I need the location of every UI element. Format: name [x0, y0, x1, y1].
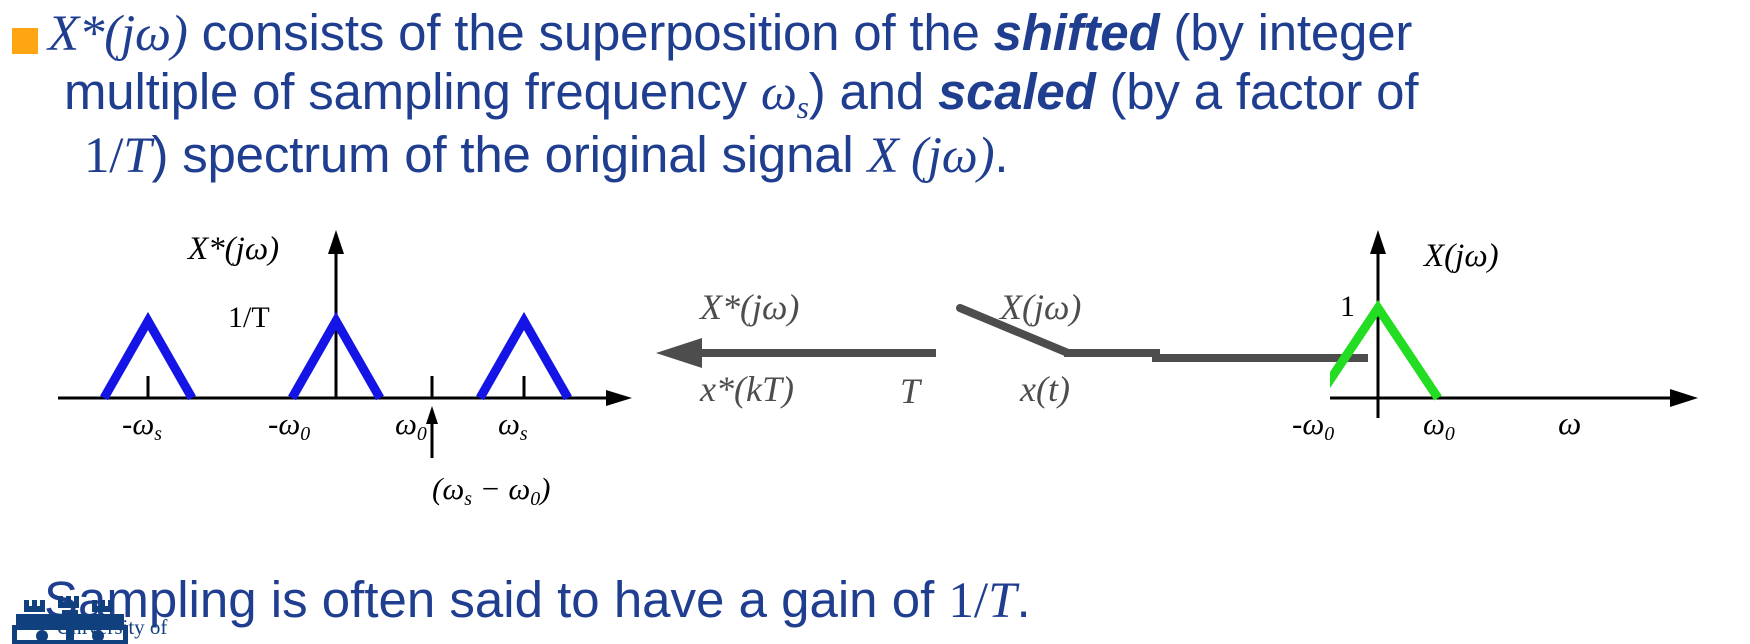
math-omega-subscript-s: s	[797, 90, 809, 125]
original-spectrum-y-axis-arrowhead	[1370, 230, 1386, 254]
bullet-line-1-text-b: (by integer	[1159, 4, 1412, 61]
bullet-paragraph: X*(jω) consists of the superposition of …	[48, 4, 1748, 185]
bullet-line-2-text-b: ) and	[809, 63, 938, 120]
left-arrow-head	[656, 338, 702, 368]
orange-square-bullet-icon	[12, 28, 38, 54]
right-arrow-label-below: x(t)	[1020, 368, 1070, 410]
figure-area: X*(jω) 1/T -ωs -ω0 ω0 ωs (ωs − ω0) X*(jω…	[0, 228, 1750, 548]
left-arrow-label-above: X*(jω)	[700, 286, 799, 328]
bullet-line-3: 1/T) spectrum of the original signal X (…	[48, 126, 1748, 185]
left-arrow-label-below: x*(kT)	[700, 368, 794, 410]
closing-math-one-over: 1/	[948, 573, 988, 629]
math-T: T	[123, 128, 151, 184]
annotation-pointer-arrowhead	[426, 406, 438, 424]
math-omega: ω	[761, 65, 797, 121]
slide-canvas: X*(jω) consists of the superposition of …	[0, 0, 1750, 644]
closing-text-b: .	[1016, 571, 1030, 628]
bullet-line-1-text-a: consists of the superposition of the	[188, 4, 994, 61]
original-spectrum-x-axis-arrowhead	[1670, 389, 1698, 407]
sampled-spectrum-x-axis-arrowhead	[606, 390, 632, 406]
xtick-minus-omega-s: -ωs	[122, 406, 162, 446]
switch-period-label: T	[900, 370, 920, 412]
original-spectrum-y-label: 1	[1340, 290, 1355, 324]
bullet-line-2: multiple of sampling frequency ωs) and s…	[48, 63, 1748, 126]
closing-sentence: Sampling is often said to have a gain of…	[44, 570, 1031, 630]
original-xtick-minus-omega-0: -ω0	[1292, 406, 1334, 446]
xtick-omega-s: ωs	[498, 406, 528, 446]
xtick-omega-0: ω0	[395, 406, 427, 446]
bullet-line-3-text-b: .	[994, 126, 1008, 183]
bullet-line-1: X*(jω) consists of the superposition of …	[48, 4, 1748, 63]
closing-text-a: Sampling is often said to have a gain of	[44, 571, 948, 628]
sampled-spectrum-annotation: (ωs − ω0)	[432, 471, 551, 511]
closing-math-T: T	[988, 573, 1016, 629]
original-xtick-omega-0: ω0	[1423, 406, 1455, 446]
original-spectrum-title: X(jω)	[1424, 238, 1499, 275]
math-x-jomega: X (jω)	[868, 128, 995, 184]
math-one-over: 1/	[84, 128, 123, 184]
sampled-spectrum-y-axis-arrowhead	[328, 230, 344, 254]
original-spectrum-chart	[1330, 228, 1750, 458]
original-spectrum-x-axis-label: ω	[1558, 406, 1581, 443]
sampled-spectrum-title: X*(jω)	[188, 231, 279, 268]
bullet-line-2-text-a: multiple of sampling frequency	[64, 63, 761, 120]
logo-caption: University of	[56, 615, 167, 640]
bullet-emph-scaled: scaled	[938, 63, 1096, 120]
math-x-star-jomega: X*(jω)	[48, 6, 188, 62]
xtick-minus-omega-0: -ω0	[268, 406, 310, 446]
bullet-emph-shifted: shifted	[994, 4, 1160, 61]
bullet-line-2-text-c: (by a factor of	[1096, 63, 1419, 120]
bullet-line-3-text-a: ) spectrum of the original signal	[151, 126, 867, 183]
right-arrow-label-above: X(jω)	[1000, 286, 1081, 328]
sampled-spectrum-y-label: 1/T	[228, 301, 270, 335]
